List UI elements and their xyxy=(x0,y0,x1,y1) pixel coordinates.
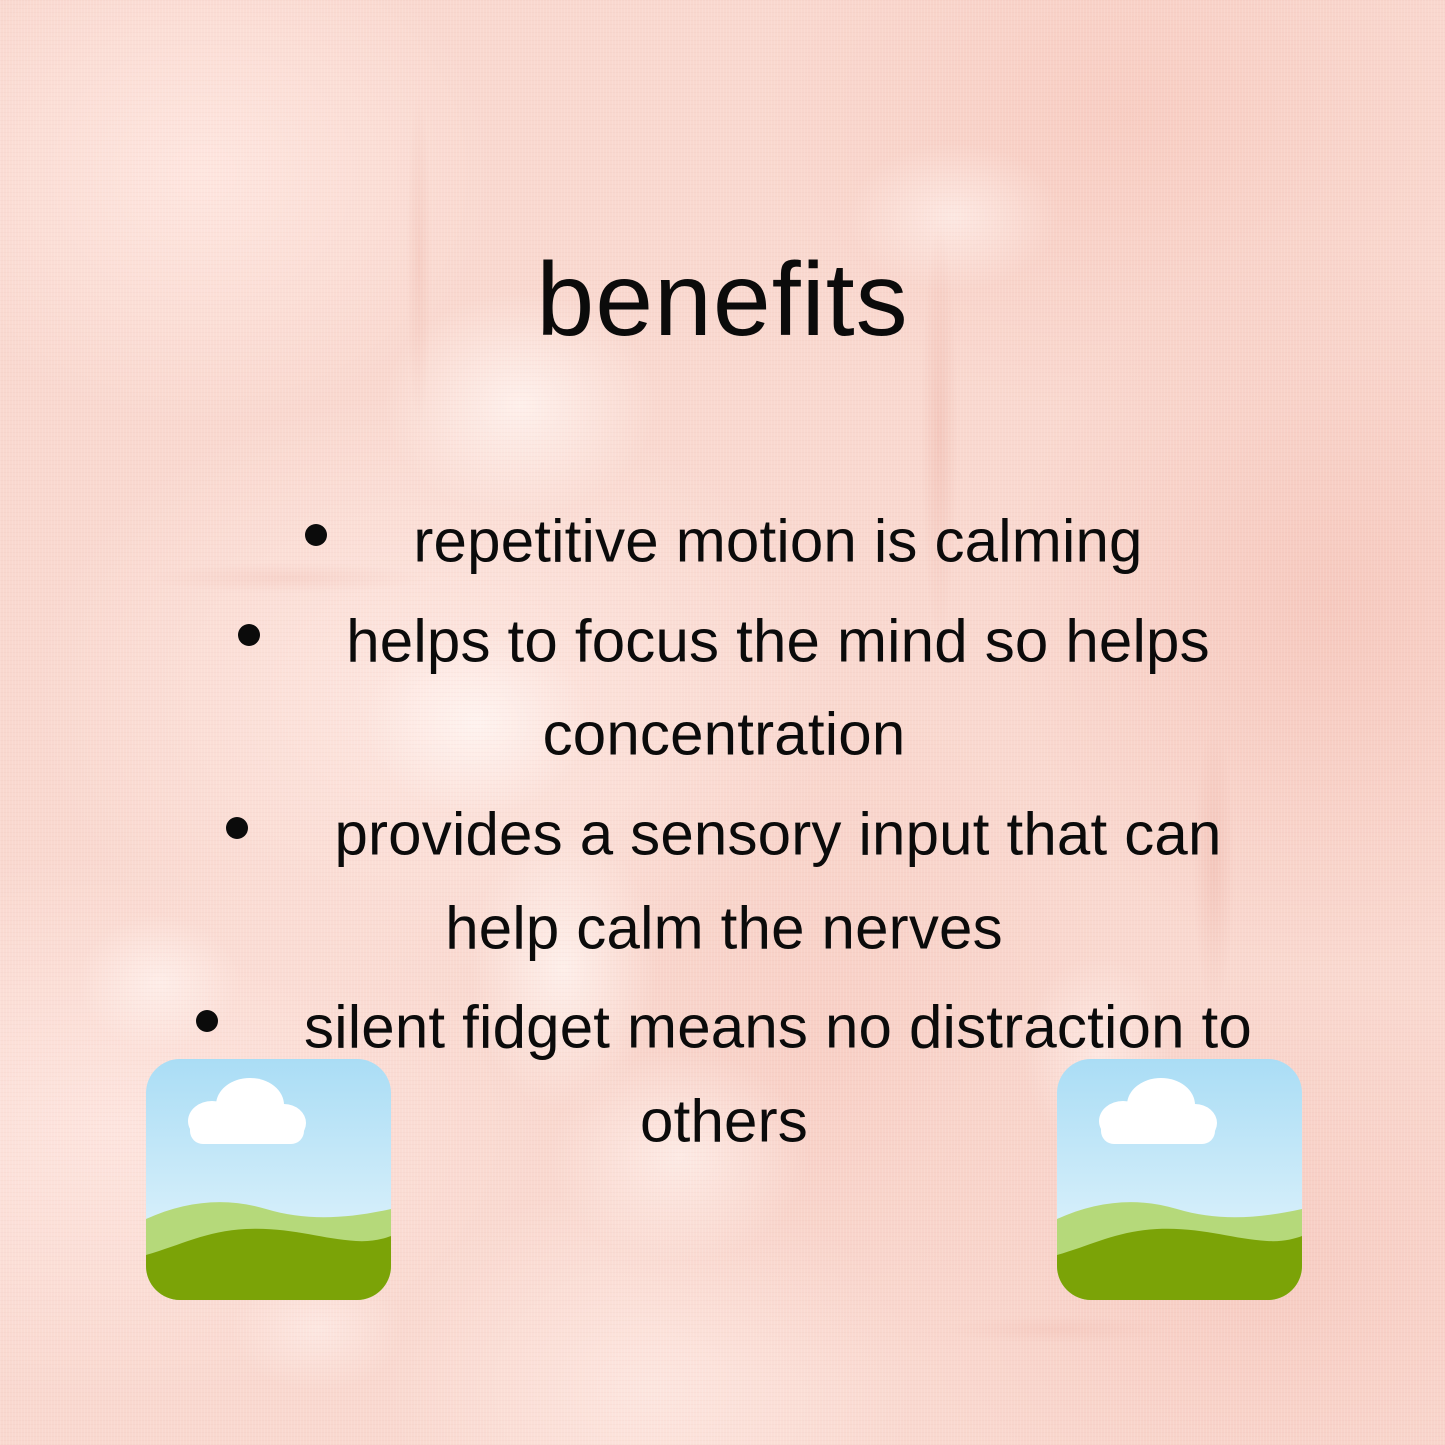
list-item-label: helps to focus the mind so helps concent… xyxy=(346,607,1210,768)
landscape-placeholder-icon xyxy=(1057,1059,1302,1300)
page-title: benefits xyxy=(0,244,1445,356)
bullet-point-icon xyxy=(196,1010,218,1032)
bullet-point-icon xyxy=(238,624,260,646)
landscape-thumbnail-left xyxy=(146,1059,391,1300)
list-item: repetitive motion is calming xyxy=(178,492,1270,586)
list-item: helps to focus the mind so helps concent… xyxy=(178,592,1270,779)
poster-content: benefits repetitive motion is calming he… xyxy=(0,0,1445,1445)
list-item-label: provides a sensory input that can help c… xyxy=(334,801,1221,962)
landscape-placeholder-icon xyxy=(146,1059,391,1300)
list-item: provides a sensory input that can help c… xyxy=(178,785,1270,972)
landscape-thumbnail-right xyxy=(1057,1059,1302,1300)
poster-canvas: benefits repetitive motion is calming he… xyxy=(0,0,1445,1445)
list-item-label: repetitive motion is calming xyxy=(413,508,1142,575)
bullet-point-icon xyxy=(305,524,327,546)
bullet-point-icon xyxy=(226,817,248,839)
